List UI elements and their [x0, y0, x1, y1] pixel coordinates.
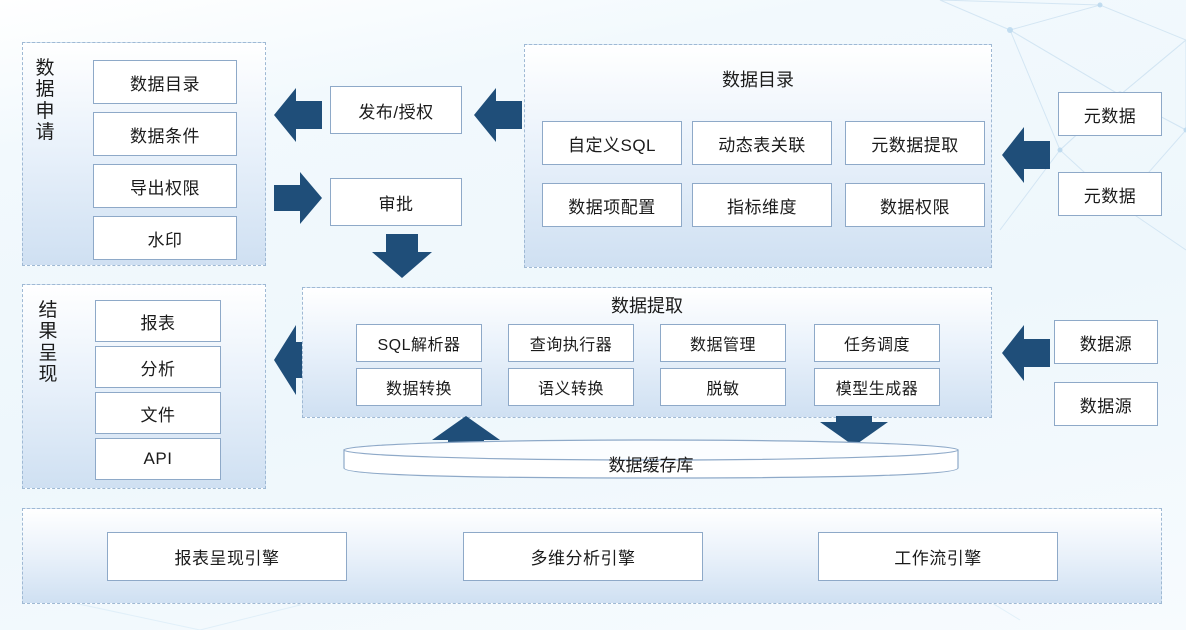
cache-database-label: 数据缓存库: [342, 438, 960, 480]
box-catalog-data-permission[interactable]: 数据权限: [845, 183, 985, 227]
box-engine-multidimensional-analysis[interactable]: 多维分析引擎: [463, 532, 703, 581]
box-metadata-2[interactable]: 元数据: [1058, 172, 1162, 216]
box-catalog-metric-dimension[interactable]: 指标维度: [692, 183, 832, 227]
arrow-down-approval-to-extraction: [372, 234, 432, 278]
box-datasource-1[interactable]: 数据源: [1054, 320, 1158, 364]
box-extraction-model-generator[interactable]: 模型生成器: [814, 368, 940, 406]
box-extraction-data-management[interactable]: 数据管理: [660, 324, 786, 362]
arrow-left-catalog-to-publish: [474, 85, 522, 145]
box-extraction-data-transform[interactable]: 数据转换: [356, 368, 482, 406]
box-engine-report-rendering[interactable]: 报表呈现引擎: [107, 532, 347, 581]
result-presentation-side-label: 结果呈现: [36, 300, 60, 385]
box-catalog-metadata-extraction[interactable]: 元数据提取: [845, 121, 985, 165]
box-extraction-task-scheduling[interactable]: 任务调度: [814, 324, 940, 362]
box-result-analysis[interactable]: 分析: [95, 346, 221, 388]
box-result-file[interactable]: 文件: [95, 392, 221, 434]
box-extraction-masking[interactable]: 脱敏: [660, 368, 786, 406]
box-data-application-catalog[interactable]: 数据目录: [93, 60, 237, 104]
box-catalog-dynamic-table-join[interactable]: 动态表关联: [692, 121, 832, 165]
box-extraction-query-executor[interactable]: 查询执行器: [508, 324, 634, 362]
box-engine-workflow[interactable]: 工作流引擎: [818, 532, 1058, 581]
data-application-side-label: 数据申请: [33, 58, 57, 143]
arrow-right-application-to-approval: [274, 170, 322, 226]
arrow-left-publish-to-application: [274, 85, 322, 145]
box-extraction-semantic-transform[interactable]: 语义转换: [508, 368, 634, 406]
arrow-left-datasource-to-extraction: [1002, 322, 1050, 384]
box-publish-authorize[interactable]: 发布/授权: [330, 86, 462, 134]
box-catalog-data-item-config[interactable]: 数据项配置: [542, 183, 682, 227]
box-datasource-2[interactable]: 数据源: [1054, 382, 1158, 426]
data-catalog-title: 数据目录: [524, 66, 992, 92]
box-result-report[interactable]: 报表: [95, 300, 221, 342]
box-result-api[interactable]: API: [95, 438, 221, 480]
box-data-application-watermark[interactable]: 水印: [93, 216, 237, 260]
box-catalog-custom-sql[interactable]: 自定义SQL: [542, 121, 682, 165]
arrow-left-metadata-to-catalog: [1002, 124, 1050, 186]
box-extraction-sql-parser[interactable]: SQL解析器: [356, 324, 482, 362]
data-extraction-title: 数据提取: [302, 292, 992, 318]
box-metadata-1[interactable]: 元数据: [1058, 92, 1162, 136]
box-approval[interactable]: 审批: [330, 178, 462, 226]
box-data-application-conditions[interactable]: 数据条件: [93, 112, 237, 156]
diagram-canvas: 数据申请 数据目录 数据条件 导出权限 水印 发布/授权 审批 数据目录 自定义…: [0, 0, 1186, 630]
cache-database-cylinder: 数据缓存库: [342, 438, 960, 480]
box-data-application-export-permission[interactable]: 导出权限: [93, 164, 237, 208]
